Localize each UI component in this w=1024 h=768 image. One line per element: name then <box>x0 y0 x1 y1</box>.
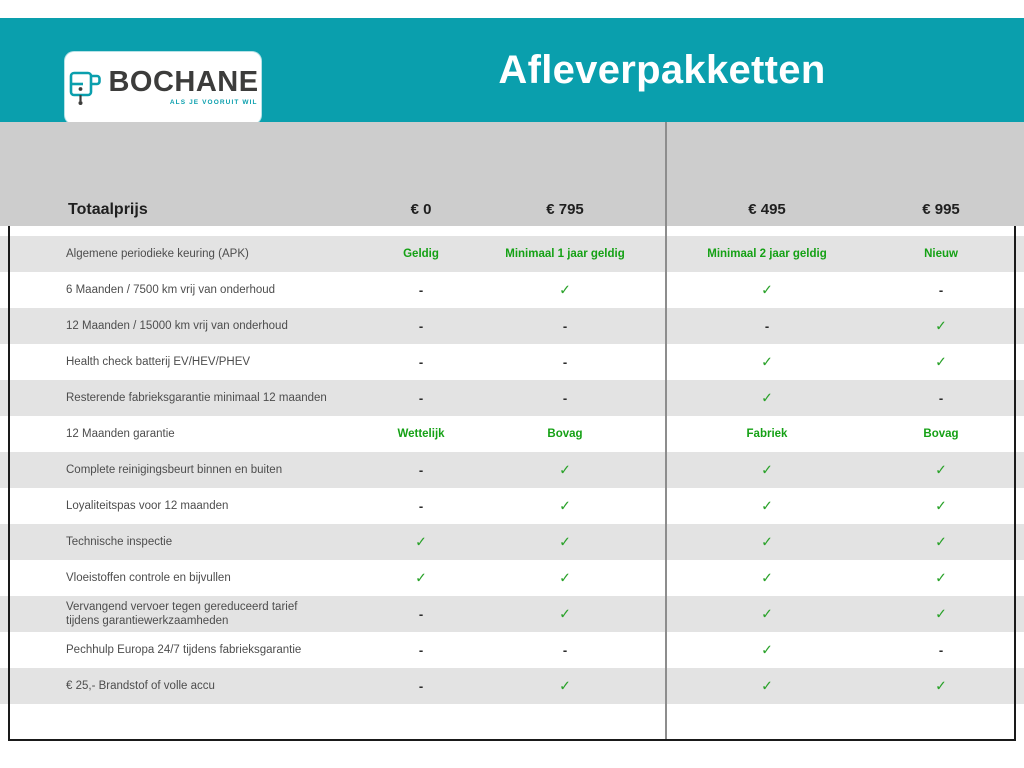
cell-select: - <box>668 319 866 334</box>
cell-standaard: Wettelijk <box>352 428 490 440</box>
row-label: 12 Maanden garantie <box>66 427 175 441</box>
cell-select: ✓ <box>668 390 866 407</box>
table-row: Vloeistoffen controle en bijvullen✓✓✓✓ <box>0 560 1024 596</box>
cell-plus: ✓ <box>866 570 1016 587</box>
total-price-plus: € 995 <box>866 194 1016 226</box>
table-row: 6 Maanden / 7500 km vrij van onderhoud-✓… <box>0 272 1024 308</box>
table-row: Complete reinigingsbeurt binnen en buite… <box>0 452 1024 488</box>
page-banner: BOCHANE ALS JE VOORUIT WIL Afleverpakket… <box>0 18 1024 122</box>
cell-standaard: - <box>352 679 490 694</box>
row-label: € 25,- Brandstof of volle accu <box>66 679 215 693</box>
cell-plus: Nieuw <box>866 248 1016 260</box>
row-label: Vervangend vervoer tegen gereduceerd tar… <box>66 600 297 628</box>
cell-basis: ✓ <box>490 534 640 551</box>
cell-plus: ✓ <box>866 498 1016 515</box>
total-price-row: Totaalprijs € 0 € 795 € 495 € 995 <box>0 194 1024 226</box>
cell-standaard: - <box>352 463 490 478</box>
table-row: Technische inspectie✓✓✓✓ <box>0 524 1024 560</box>
cell-plus: ✓ <box>866 606 1016 623</box>
page-title: Afleverpakketten <box>300 18 1024 122</box>
cell-basis: ✓ <box>490 498 640 515</box>
cell-basis: ✓ <box>490 606 640 623</box>
table-row: Pechhulp Europa 24/7 tijdens fabrieksgar… <box>0 632 1024 668</box>
cell-plus: ✓ <box>866 318 1016 335</box>
total-price-standaard: € 0 <box>352 194 490 226</box>
cell-basis: - <box>490 643 640 658</box>
cell-basis: ✓ <box>490 282 640 299</box>
afleverpakketten-sheet: BOCHANE ALS JE VOORUIT WIL Afleverpakket… <box>0 0 1024 768</box>
table-right-border <box>1014 226 1016 741</box>
table-row: Loyaliteitspas voor 12 maanden-✓✓✓ <box>0 488 1024 524</box>
cell-standaard: - <box>352 391 490 406</box>
cell-select: ✓ <box>668 282 866 299</box>
row-label: Algemene periodieke keuring (APK) <box>66 247 249 261</box>
cell-plus: ✓ <box>866 354 1016 371</box>
cell-plus: ✓ <box>866 462 1016 479</box>
row-label: Loyaliteitspas voor 12 maanden <box>66 499 228 513</box>
cell-standaard: - <box>352 499 490 514</box>
table-row: 12 Maanden / 15000 km vrij van onderhoud… <box>0 308 1024 344</box>
logo-wordmark: BOCHANE <box>108 68 258 97</box>
cell-basis: - <box>490 319 640 334</box>
cell-standaard: ✓ <box>352 570 490 587</box>
table-bottom-border <box>8 739 1016 741</box>
cell-select: ✓ <box>668 606 866 623</box>
cell-standaard: - <box>352 643 490 658</box>
bochane-mark-icon <box>67 67 101 107</box>
cell-plus: ✓ <box>866 534 1016 551</box>
cell-plus: - <box>866 391 1016 406</box>
row-label: Pechhulp Europa 24/7 tijdens fabrieksgar… <box>66 643 301 657</box>
cell-basis: Bovag <box>490 428 640 440</box>
cell-select: ✓ <box>668 498 866 515</box>
row-label: Complete reinigingsbeurt binnen en buite… <box>66 463 282 477</box>
table-row: Health check batterij EV/HEV/PHEV--✓✓ <box>0 344 1024 380</box>
cell-standaard: ✓ <box>352 534 490 551</box>
cell-select: ✓ <box>668 462 866 479</box>
row-label: Technische inspectie <box>66 535 172 549</box>
cell-select: ✓ <box>668 534 866 551</box>
table-row: Resterende fabrieksgarantie minimaal 12 … <box>0 380 1024 416</box>
cell-select: ✓ <box>668 678 866 695</box>
cell-select: ✓ <box>668 642 866 659</box>
cell-basis: ✓ <box>490 570 640 587</box>
row-label: Resterende fabrieksgarantie minimaal 12 … <box>66 391 327 405</box>
cell-plus: - <box>866 283 1016 298</box>
cell-plus: Bovag <box>866 428 1016 440</box>
row-label: 12 Maanden / 15000 km vrij van onderhoud <box>66 319 288 333</box>
table-row: Vervangend vervoer tegen gereduceerd tar… <box>0 596 1024 632</box>
bochane-logo: BOCHANE ALS JE VOORUIT WIL <box>65 52 261 124</box>
total-price-select: € 495 <box>668 194 866 226</box>
cell-standaard: - <box>352 355 490 370</box>
table-row: 12 Maanden garantieWettelijkBovagFabriek… <box>0 416 1024 452</box>
cell-select: ✓ <box>668 570 866 587</box>
table-row: € 25,- Brandstof of volle accu-✓✓✓ <box>0 668 1024 704</box>
cell-standaard: - <box>352 283 490 298</box>
table-left-border <box>8 226 10 741</box>
cell-standaard: - <box>352 607 490 622</box>
cell-plus: ✓ <box>866 678 1016 695</box>
row-label: 6 Maanden / 7500 km vrij van onderhoud <box>66 283 275 297</box>
cell-basis: Minimaal 1 jaar geldig <box>490 248 640 260</box>
cell-basis: - <box>490 355 640 370</box>
cell-select: Minimaal 2 jaar geldig <box>668 248 866 260</box>
logo-tagline: ALS JE VOORUIT WIL <box>170 100 258 107</box>
cell-basis: ✓ <box>490 462 640 479</box>
cell-basis: ✓ <box>490 678 640 695</box>
cell-basis: - <box>490 391 640 406</box>
cell-standaard: Geldig <box>352 248 490 260</box>
row-label: Health check batterij EV/HEV/PHEV <box>66 355 250 369</box>
cell-standaard: - <box>352 319 490 334</box>
total-price-basis: € 795 <box>490 194 640 226</box>
row-label: Vloeistoffen controle en bijvullen <box>66 571 231 585</box>
cell-select: Fabriek <box>668 428 866 440</box>
cell-plus: - <box>866 643 1016 658</box>
group-divider <box>665 122 667 741</box>
total-price-label: Totaalprijs <box>68 194 148 226</box>
feature-rows: Algemene periodieke keuring (APK)GeldigM… <box>0 226 1024 741</box>
cell-select: ✓ <box>668 354 866 371</box>
table-row: Algemene periodieke keuring (APK)GeldigM… <box>0 236 1024 272</box>
